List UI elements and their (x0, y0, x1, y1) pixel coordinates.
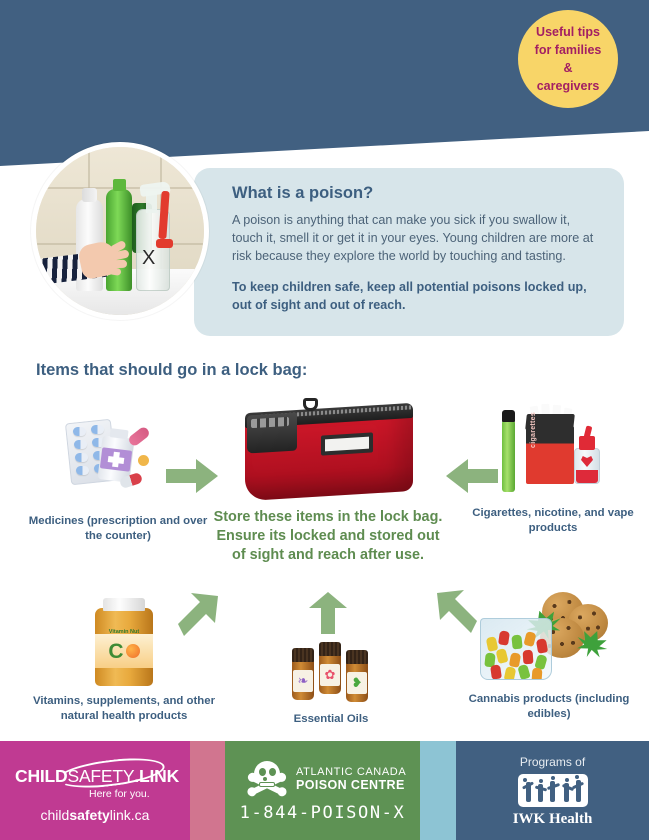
badge-line-2: for families (535, 41, 602, 59)
cleaning-products-photo: X (31, 142, 209, 320)
gummy-bear (511, 635, 522, 650)
photo-finger (109, 267, 122, 276)
footer-divider-blue (420, 741, 456, 840)
cigarette-pack-text: cigarettes (530, 412, 537, 448)
useful-tips-badge: Useful tips for families & caregivers (518, 10, 618, 108)
oil-bottle-label: ❧ (293, 670, 313, 692)
poison-centre-line-1: ATLANTIC CANADA (296, 766, 406, 778)
poison-centre-line-2: POISON CENTRE (296, 778, 406, 792)
child-safety-link-panel[interactable]: CHILDSAFETY.LINK Here for you. childsafe… (0, 741, 190, 840)
vape-liquid-fill (576, 470, 598, 483)
vitamin-bottle-label: C (95, 634, 153, 668)
oil-bottle-cap (319, 642, 341, 656)
child-safety-link-logo: CHILDSAFETY.LINK Here for you. (15, 762, 175, 792)
arrow-up-icon (309, 592, 347, 634)
vitamin-bottle-cap (103, 598, 145, 611)
arrow-left-icon (446, 459, 498, 493)
gummy-bear (495, 648, 508, 664)
iwk-figure-head (575, 775, 579, 779)
programs-of-label: Programs of (456, 755, 649, 769)
vape-pen (502, 420, 515, 492)
poison-centre-panel[interactable]: ATLANTIC CANADA POISON CENTRE 1-844-POIS… (225, 741, 420, 840)
gummy-bear (523, 631, 536, 647)
csl-tagline: Here for you. (89, 788, 150, 800)
cannabis-label: Cannabis products (including edibles) (456, 692, 642, 721)
pill (76, 466, 89, 475)
oil-bottle-cap (292, 648, 314, 662)
poison-centre-logo: ATLANTIC CANADA POISON CENTRE (247, 761, 406, 797)
cannabis-icon (480, 592, 610, 684)
flower-icon: ✿ (325, 667, 336, 683)
lockbag-section-heading: Items that should go in a lock bag: (36, 361, 307, 380)
card-title: What is a poison? (232, 184, 602, 203)
vitamins-label: Vitamins, supplements, and other natural… (14, 694, 234, 723)
oil-bottle-label: ✿ (320, 664, 340, 686)
poison-centre-phone[interactable]: 1-844-POISON-X (225, 803, 420, 823)
iwk-health-panel[interactable]: Programs of IWK Health (456, 741, 649, 840)
cigarettes-label: Cigarettes, nicotine, and vape products (468, 506, 638, 535)
pill-capsule-pink (127, 425, 151, 447)
gummy-bear (517, 664, 530, 680)
photo-green-bottle (106, 189, 132, 291)
lavender-icon: ❧ (298, 673, 309, 689)
skull-eye (269, 768, 276, 776)
essential-oils-label: Essential Oils (268, 712, 394, 727)
arrow-right-icon (166, 459, 218, 493)
skull-jaw (259, 782, 275, 787)
photo-x-mark: X (142, 247, 155, 270)
photo-spray-trigger-base (156, 239, 173, 248)
gummy-bear (504, 666, 517, 680)
vitamin-letter: C (108, 641, 123, 662)
pill (75, 453, 88, 462)
iwk-logo-icon (518, 774, 588, 807)
vitamins-icon: Vitamin Nut C (91, 596, 157, 688)
skull-eye (259, 768, 266, 776)
oil-bottle-cap (346, 650, 368, 664)
badge-line-4: caregivers (537, 77, 600, 95)
medicines-label: Medicines (prescription and over the cou… (28, 514, 208, 543)
url-suffix: link.ca (110, 807, 150, 823)
leaf-icon: ❥ (352, 675, 363, 691)
gummy-bear (498, 630, 510, 645)
iwk-figure-head (539, 779, 543, 783)
card-body-text: A poison is anything that can make you s… (232, 212, 602, 266)
card-bold-text: To keep children safe, keep all potentia… (232, 279, 602, 315)
oil-bottle-label: ❥ (347, 672, 367, 694)
gummy-bear (523, 650, 534, 665)
skull-crossbones-icon (247, 761, 287, 797)
iwk-figure-head (523, 778, 527, 782)
url-prefix: child (41, 807, 70, 823)
medicines-icon (68, 415, 160, 493)
url-bold: safety (69, 807, 109, 823)
gummy-bear (490, 664, 502, 679)
page-footer: CHILDSAFETY.LINK Here for you. childsafe… (0, 741, 649, 840)
badge-line-1: Useful tips (536, 23, 600, 41)
child-safety-link-url[interactable]: childsafetylink.ca (0, 807, 190, 823)
skull-nose (263, 777, 267, 781)
arrow-up-left-icon (437, 589, 483, 633)
poison-centre-wordmark: ATLANTIC CANADA POISON CENTRE (296, 766, 406, 792)
iwk-health-name: IWK Health (456, 811, 649, 828)
orange-slice-icon (126, 644, 140, 658)
lock-bag-image (237, 396, 419, 501)
gummy-bear (532, 668, 543, 680)
lock-bag-instruction-text: Store these items in the lock bag. Ensur… (212, 508, 444, 565)
iwk-figure-head (551, 776, 555, 780)
gummy-bear (536, 638, 548, 654)
lock-bag-label-window (321, 432, 373, 455)
iwk-figure-head (565, 778, 569, 782)
pill (74, 440, 87, 449)
pill (91, 425, 104, 434)
footer-divider-pink (190, 741, 225, 840)
what-is-a-poison-card: What is a poison? A poison is anything t… (194, 168, 624, 336)
cigarettes-vape-icon: cigarettes (496, 404, 608, 494)
lock-bag-zipper-pull (303, 398, 318, 411)
arrow-up-right-icon (172, 592, 218, 636)
pill-round-orange (138, 455, 149, 466)
essential-oils-icon: ❧ ✿ ❥ (290, 634, 372, 704)
badge-line-3: & (563, 59, 572, 77)
pill (73, 427, 86, 436)
edibles-bag (480, 618, 552, 680)
skull-head (254, 761, 280, 784)
